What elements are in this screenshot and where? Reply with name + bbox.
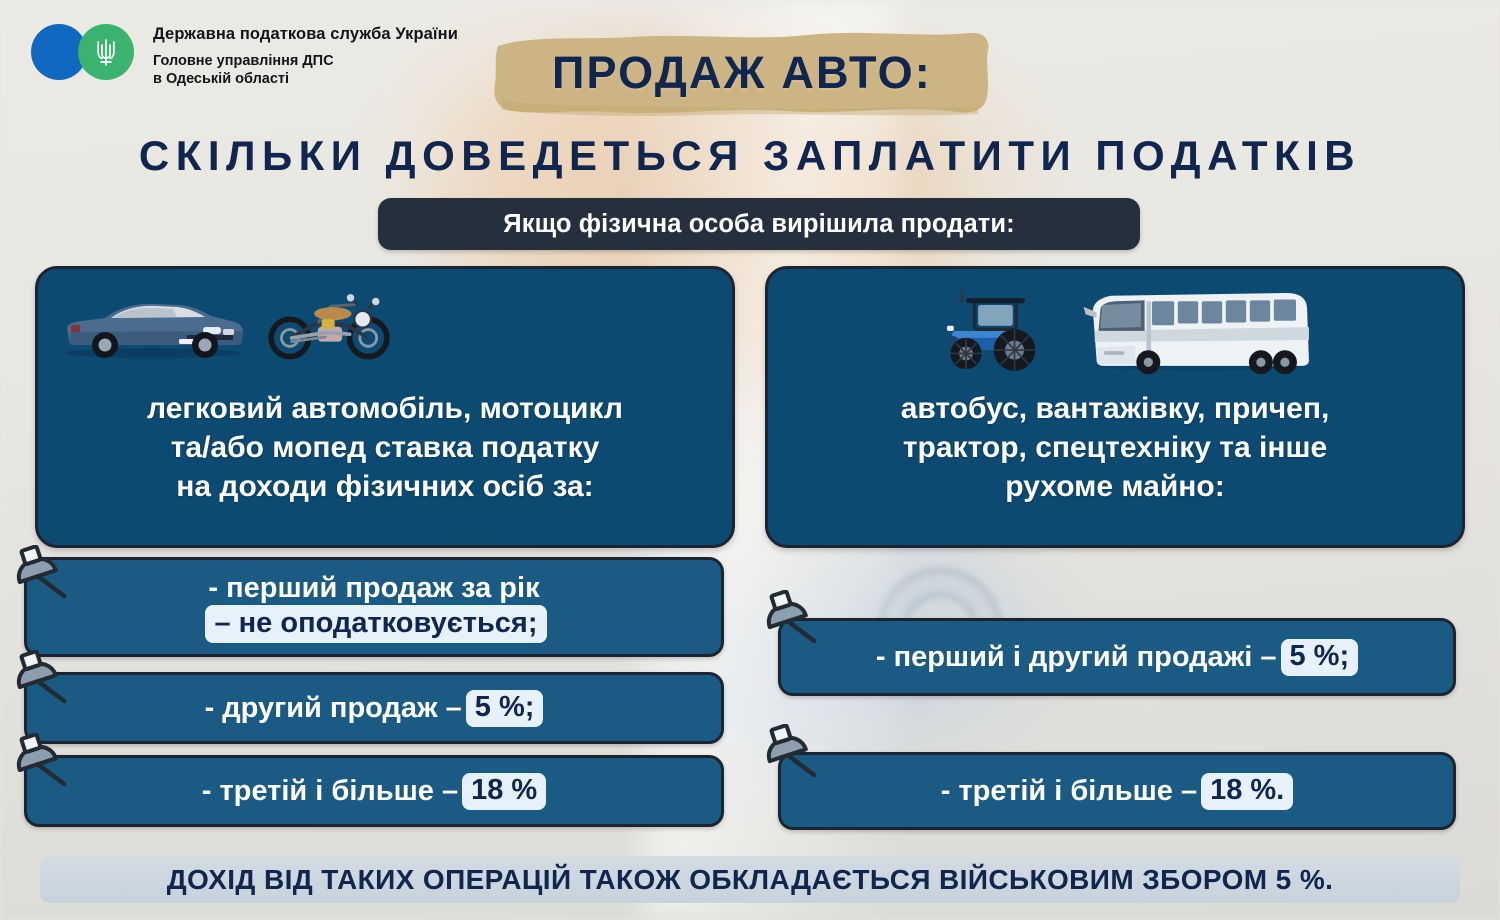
pushpin-icon bbox=[758, 590, 820, 660]
pushpin-icon bbox=[8, 545, 70, 615]
pushpin-icon bbox=[8, 733, 70, 803]
rate-row-left-second: - другий продаж – 5 %; bbox=[24, 672, 724, 744]
rate-right-third-label: - третій і більше – bbox=[941, 775, 1197, 808]
title-banner: ПРОДАЖ АВТО: bbox=[492, 26, 992, 122]
card-light-vehicles-caption: легковий автомобіль, мотоцикл та/або моп… bbox=[38, 389, 732, 545]
rate-right-first-label: - перший і другий продажі – bbox=[876, 641, 1277, 674]
motorcycle-icon bbox=[260, 283, 400, 363]
agency-logo-block: Державна податкова служба України Головн… bbox=[31, 24, 458, 88]
card-heavy-vehicles-art bbox=[768, 269, 1462, 389]
rate-row-left-third: - третій і більше – 18 % bbox=[24, 755, 724, 827]
rate-row-right-first-second: - перший і другий продажі – 5 %; bbox=[778, 618, 1456, 696]
agency-unit: Головне управління ДПС в Одеській област… bbox=[153, 53, 458, 88]
card-heavy-vehicles-caption: автобус, вантажівку, причеп, трактор, сп… bbox=[768, 389, 1462, 545]
car-icon bbox=[53, 291, 253, 361]
ukraine-trident-icon bbox=[95, 36, 117, 68]
rate-left-first-line2: – не оподатковується; bbox=[201, 605, 546, 643]
rate-row-left-first: - перший продаж за рік – не оподатковуєт… bbox=[24, 557, 724, 657]
rate-left-second-chip: 5 %; bbox=[466, 690, 544, 727]
rate-row-right-third-box: - третій і більше – 18 %. bbox=[778, 752, 1456, 830]
rate-right-first-chip: 5 %; bbox=[1281, 639, 1359, 676]
card-heavy-vehicles: автобус, вантажівку, причеп, трактор, сп… bbox=[765, 266, 1465, 548]
pushpin-icon bbox=[8, 650, 70, 720]
rate-left-third-chip: 18 % bbox=[462, 773, 546, 810]
pushpin-icon bbox=[758, 724, 820, 794]
infographic-frame: Державна податкова служба України Головн… bbox=[0, 0, 1500, 920]
intro-banner-text: Якщо фізична особа вирішила продати: bbox=[503, 210, 1014, 239]
rate-row-left-second-box: - другий продаж – 5 %; bbox=[24, 672, 724, 744]
page-subtitle: СКІЛЬКИ ДОВЕДЕТЬСЯ ЗАПЛАТИТИ ПОДАТКІВ bbox=[0, 132, 1500, 180]
footer-note: ДОХІД ВІД ТАКИХ ОПЕРАЦІЙ ТАКОЖ ОБКЛАДАЄТ… bbox=[40, 856, 1460, 903]
bus-icon bbox=[1080, 279, 1320, 379]
footer-note-text: ДОХІД ВІД ТАКИХ ОПЕРАЦІЙ ТАКОЖ ОБКЛАДАЄТ… bbox=[167, 864, 1334, 896]
rate-row-right-third: - третій і більше – 18 %. bbox=[778, 752, 1456, 830]
agency-name-block: Державна податкова служба України Головн… bbox=[153, 24, 458, 88]
rate-right-third-chip: 18 %. bbox=[1201, 773, 1293, 810]
rate-row-left-first-box: - перший продаж за рік – не оподатковуєт… bbox=[24, 557, 724, 657]
rate-row-left-third-box: - третій і більше – 18 % bbox=[24, 755, 724, 827]
rate-row-right-first-second-box: - перший і другий продажі – 5 %; bbox=[778, 618, 1456, 696]
tractor-icon bbox=[940, 281, 1070, 381]
rate-left-first-chip: – не оподатковується; bbox=[205, 605, 546, 643]
rate-left-third-label: - третій і більше – bbox=[202, 775, 458, 808]
rate-left-second-label: - другий продаж – bbox=[205, 692, 462, 725]
agency-name: Державна податкова служба України bbox=[153, 25, 458, 44]
page-title: ПРОДАЖ АВТО: bbox=[492, 26, 992, 122]
card-light-vehicles-art bbox=[38, 269, 732, 389]
intro-banner: Якщо фізична особа вирішила продати: bbox=[378, 198, 1140, 250]
logo-mark bbox=[31, 24, 135, 80]
rate-left-first-line1: - перший продаж за рік bbox=[208, 571, 539, 605]
card-light-vehicles: легковий автомобіль, мотоцикл та/або моп… bbox=[35, 266, 735, 548]
